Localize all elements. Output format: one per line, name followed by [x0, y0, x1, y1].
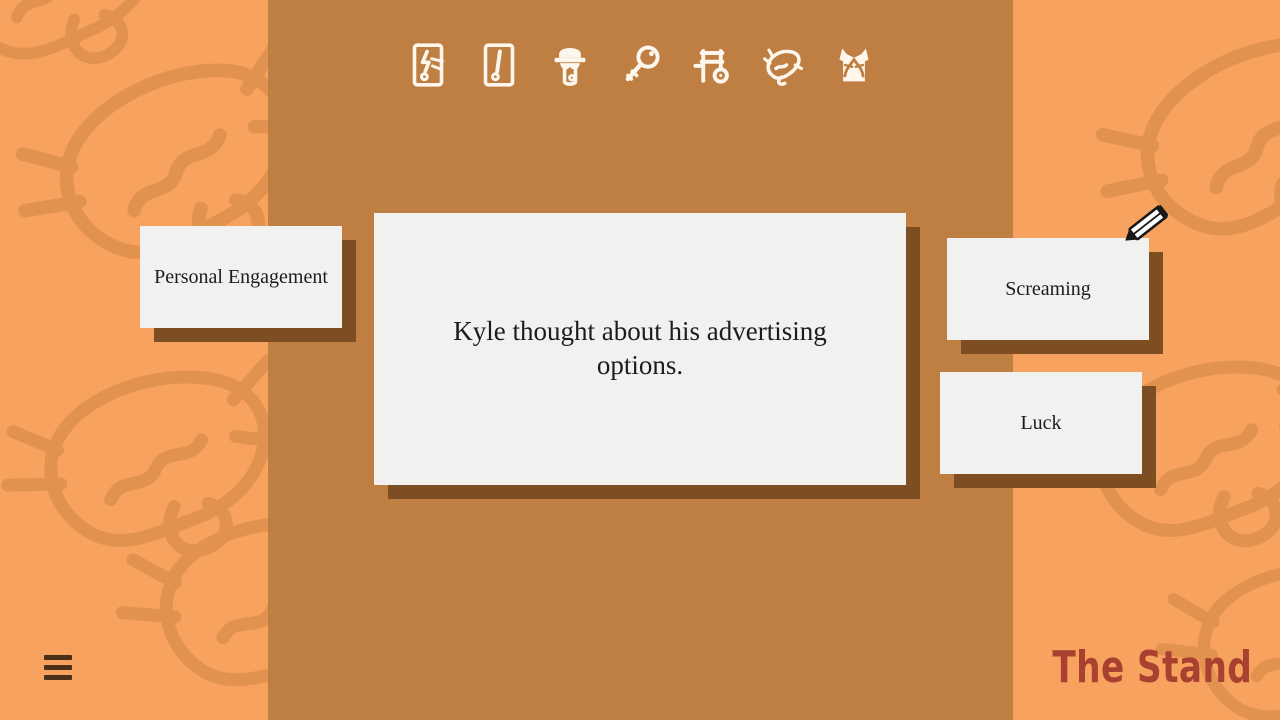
choice-card-luck[interactable]: Luck [940, 372, 1142, 474]
vendor-hat-icon[interactable] [547, 37, 593, 93]
apron-icon[interactable] [831, 37, 877, 93]
key-icon[interactable] [618, 37, 664, 93]
peanut-icon[interactable] [760, 37, 806, 93]
menu-bar-2 [44, 665, 72, 670]
menu-button[interactable] [44, 652, 74, 682]
menu-bar-3 [44, 675, 72, 680]
pencil-icon[interactable] [1120, 198, 1178, 250]
game-title: The Stand [1052, 642, 1252, 693]
choice-card-screaming[interactable]: Screaming [947, 238, 1149, 340]
choice-card-personal-engagement[interactable]: Personal Engagement [140, 226, 342, 328]
cart-icon[interactable] [689, 37, 735, 93]
story-card[interactable]: Kyle thought about his advertising optio… [374, 213, 906, 485]
menu-bar-1 [44, 655, 72, 660]
cracked-sign-icon[interactable] [405, 37, 451, 93]
sign-icon[interactable] [476, 37, 522, 93]
inventory-bar [268, 34, 1013, 96]
